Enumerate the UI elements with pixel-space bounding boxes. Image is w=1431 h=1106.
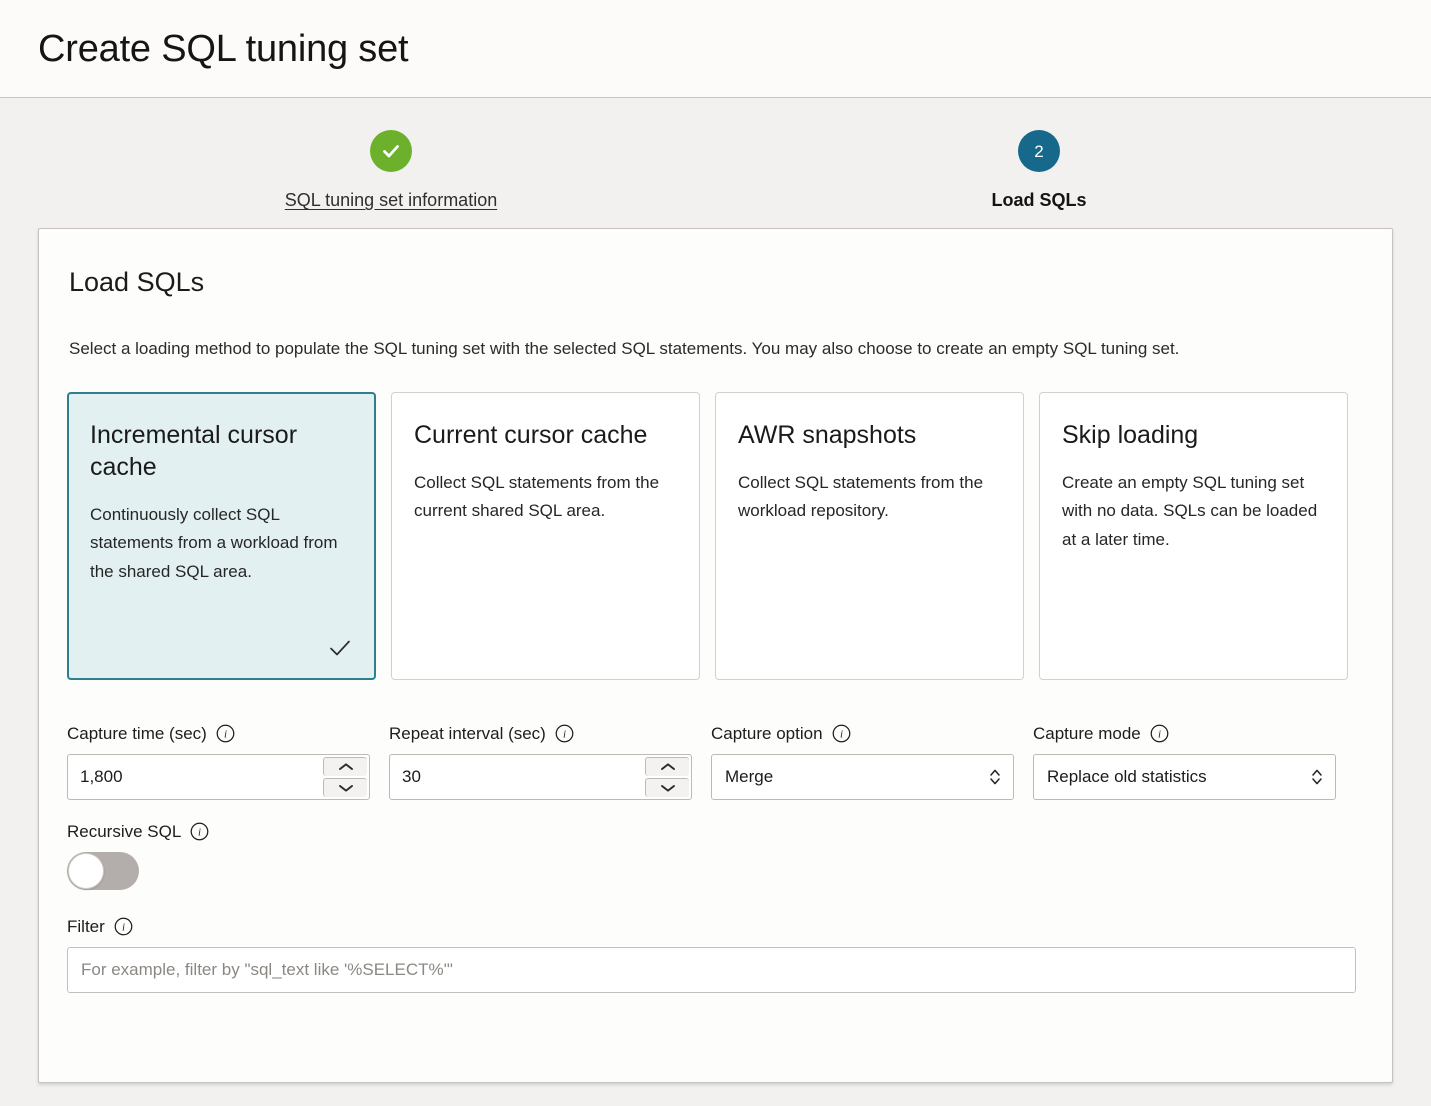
info-circle-icon[interactable]: i <box>114 917 133 936</box>
toggle-knob <box>68 853 104 889</box>
option-card-skip-loading[interactable]: Skip loading Create an empty SQL tuning … <box>1039 392 1348 680</box>
repeat-interval-decrement-button[interactable] <box>645 778 689 797</box>
capture-option-select[interactable]: Merge <box>711 754 1014 800</box>
wizard-step-sql-tuning-set-information[interactable]: SQL tuning set information <box>226 130 556 212</box>
svg-text:i: i <box>1158 728 1161 740</box>
selected-check-icon <box>328 636 352 660</box>
capture-option-value: Merge <box>725 767 773 787</box>
info-circle-icon[interactable]: i <box>190 822 209 841</box>
repeat-interval-increment-button[interactable] <box>645 757 689 776</box>
svg-text:i: i <box>198 826 201 838</box>
svg-text:i: i <box>122 921 125 933</box>
repeat-interval-label-group: Repeat interval (sec) i <box>389 724 692 743</box>
info-circle-icon[interactable]: i <box>832 724 851 743</box>
option-description: Collect SQL statements from the workload… <box>738 469 1001 527</box>
capture-time-input[interactable] <box>68 755 323 799</box>
chevron-up-icon <box>338 762 354 772</box>
info-circle-icon[interactable]: i <box>555 724 574 743</box>
step-2-current-bubble[interactable]: 2 <box>1018 130 1060 172</box>
step-2-number: 2 <box>1034 143 1043 160</box>
svg-text:i: i <box>224 728 227 740</box>
capture-mode-value: Replace old statistics <box>1047 767 1207 787</box>
wizard-step-1-label[interactable]: SQL tuning set information <box>226 190 556 212</box>
info-circle-icon[interactable]: i <box>216 724 235 743</box>
capture-time-label: Capture time (sec) <box>67 725 207 742</box>
field-capture-mode: Capture mode i Replace old statistics <box>1033 724 1336 800</box>
capture-time-stepper[interactable] <box>67 754 370 800</box>
filter-input[interactable] <box>67 947 1356 993</box>
recursive-sql-toggle[interactable] <box>67 852 139 890</box>
panel-description: Select a loading method to populate the … <box>69 336 1314 362</box>
info-circle-icon[interactable]: i <box>1150 724 1169 743</box>
option-description: Create an empty SQL tuning set with no d… <box>1062 469 1325 556</box>
chevron-down-icon <box>338 783 354 793</box>
load-sqls-panel: Load SQLs Select a loading method to pop… <box>38 228 1393 1083</box>
svg-text:i: i <box>563 728 566 740</box>
field-capture-option: Capture option i Merge <box>711 724 1014 800</box>
chevron-up-icon <box>660 762 676 772</box>
chevron-down-icon <box>660 783 676 793</box>
repeat-interval-stepper[interactable] <box>389 754 692 800</box>
field-filter: Filter i <box>67 917 1364 993</box>
option-description: Collect SQL statements from the current … <box>414 469 677 527</box>
panel-title: Load SQLs <box>69 269 1364 296</box>
capture-option-label: Capture option <box>711 725 823 742</box>
capture-time-increment-button[interactable] <box>323 757 367 776</box>
capture-mode-select[interactable]: Replace old statistics <box>1033 754 1336 800</box>
filter-label: Filter <box>67 918 105 935</box>
wizard-step-load-sqls[interactable]: 2 Load SQLs <box>874 130 1204 212</box>
capture-time-label-group: Capture time (sec) i <box>67 724 370 743</box>
capture-settings-row: Capture time (sec) i <box>67 724 1364 800</box>
capture-time-spin-buttons <box>323 755 369 799</box>
wizard-step-2-label: Load SQLs <box>874 190 1204 212</box>
option-card-awr-snapshots[interactable]: AWR snapshots Collect SQL statements fro… <box>715 392 1024 680</box>
chevron-up-down-icon <box>1311 767 1323 787</box>
option-title: AWR snapshots <box>738 419 1001 451</box>
capture-mode-label-group: Capture mode i <box>1033 724 1336 743</box>
field-recursive-sql: Recursive SQL i <box>67 822 1364 895</box>
repeat-interval-label: Repeat interval (sec) <box>389 725 546 742</box>
repeat-interval-spin-buttons <box>645 755 691 799</box>
chevron-up-down-icon <box>989 767 1001 787</box>
option-title: Current cursor cache <box>414 419 677 451</box>
option-title: Skip loading <box>1062 419 1325 451</box>
field-capture-time: Capture time (sec) i <box>67 724 370 800</box>
capture-mode-label: Capture mode <box>1033 725 1141 742</box>
repeat-interval-input[interactable] <box>390 755 645 799</box>
option-card-current-cursor-cache[interactable]: Current cursor cache Collect SQL stateme… <box>391 392 700 680</box>
page-title: Create SQL tuning set <box>38 30 408 68</box>
svg-text:i: i <box>840 728 843 740</box>
field-repeat-interval: Repeat interval (sec) i <box>389 724 692 800</box>
step-1-completed-bubble[interactable] <box>370 130 412 172</box>
loading-method-options: Incremental cursor cache Continuously co… <box>67 392 1364 680</box>
option-title: Incremental cursor cache <box>90 419 353 483</box>
capture-time-decrement-button[interactable] <box>323 778 367 797</box>
recursive-sql-label: Recursive SQL <box>67 823 181 840</box>
option-description: Continuously collect SQL statements from… <box>90 501 353 588</box>
check-icon <box>380 140 402 162</box>
wizard-stepper: SQL tuning set information 2 Load SQLs <box>0 98 1431 228</box>
option-card-incremental-cursor-cache[interactable]: Incremental cursor cache Continuously co… <box>67 392 376 680</box>
filter-label-group: Filter i <box>67 917 1364 936</box>
page-header: Create SQL tuning set <box>0 0 1431 98</box>
capture-option-label-group: Capture option i <box>711 724 1014 743</box>
recursive-sql-label-group: Recursive SQL i <box>67 822 1364 841</box>
